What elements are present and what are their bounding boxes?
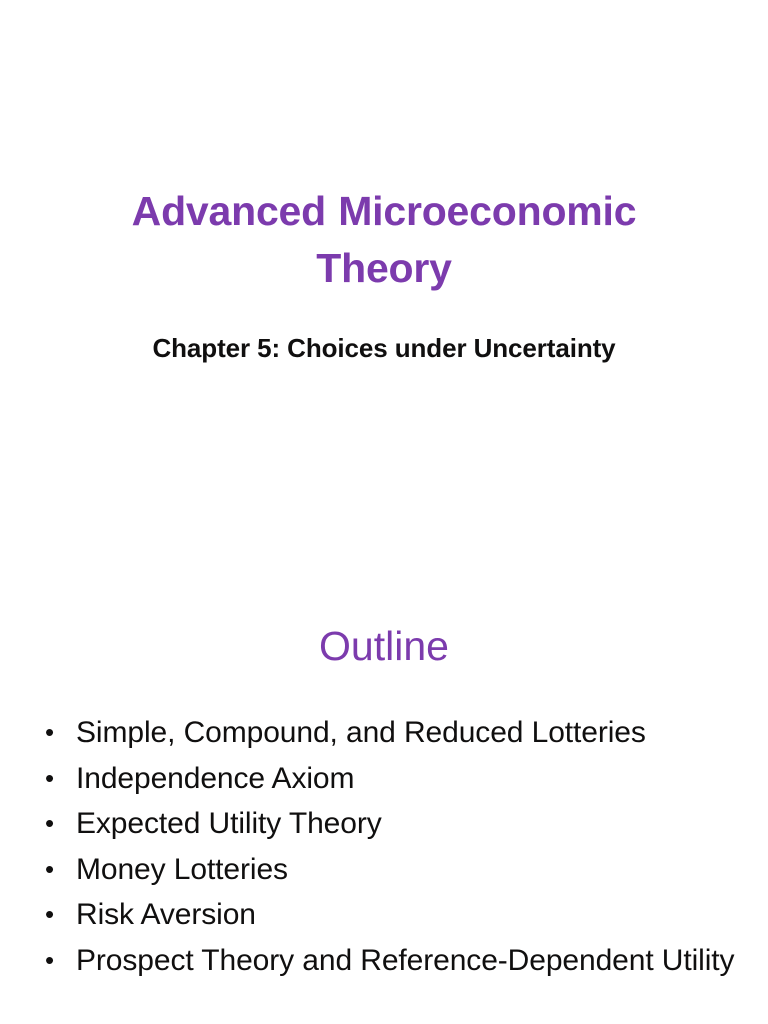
list-item-label: Independence Axiom: [76, 756, 744, 801]
list-item-label: Money Lotteries: [76, 847, 744, 892]
list-item: • Prospect Theory and Reference-Dependen…: [44, 938, 744, 983]
slide-subtitle: Chapter 5: Choices under Uncertainty: [0, 331, 768, 365]
list-item: • Simple, Compound, and Reduced Lotterie…: [44, 710, 744, 755]
list-item: • Money Lotteries: [44, 847, 744, 892]
bullet-icon: •: [45, 938, 63, 983]
outline-heading: Outline: [0, 620, 768, 672]
list-item: • Expected Utility Theory: [44, 801, 744, 846]
bullet-icon: •: [45, 892, 63, 937]
list-item-label: Simple, Compound, and Reduced Lotteries: [76, 710, 744, 755]
bullet-icon: •: [45, 710, 63, 755]
bullet-icon: •: [45, 756, 63, 801]
list-item-label: Prospect Theory and Reference-Dependent …: [76, 938, 744, 983]
bullet-icon: •: [45, 847, 63, 892]
list-item-label: Risk Aversion: [76, 892, 744, 937]
title-block: Advanced Microeconomic Theory: [0, 183, 768, 297]
bullet-icon: •: [45, 801, 63, 846]
presentation-slide: Advanced Microeconomic Theory Chapter 5:…: [0, 0, 768, 1024]
list-item: • Independence Axiom: [44, 756, 744, 801]
outline-list: • Simple, Compound, and Reduced Lotterie…: [44, 710, 744, 983]
slide-title: Advanced Microeconomic Theory: [0, 183, 768, 297]
list-item: • Risk Aversion: [44, 892, 744, 937]
list-item-label: Expected Utility Theory: [76, 801, 744, 846]
